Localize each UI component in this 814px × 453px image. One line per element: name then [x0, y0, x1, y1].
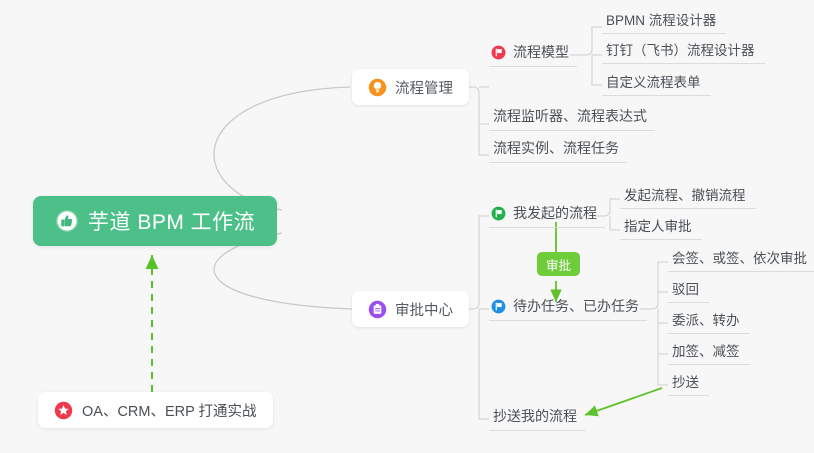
star-icon	[54, 401, 73, 420]
lightbulb-icon	[368, 78, 387, 97]
sub-node-process-model[interactable]: 流程模型	[489, 43, 577, 67]
branch-node-approval-center[interactable]: 审批中心	[352, 291, 469, 327]
root-node-label: 芋道 BPM 工作流	[88, 206, 255, 236]
thumbs-up-icon	[55, 209, 79, 233]
sub-node-label: 流程模型	[513, 42, 569, 62]
sub-node-todo-done-tasks[interactable]: 待办任务、已办任务	[489, 297, 647, 321]
flag-icon	[491, 299, 506, 314]
sub-node-label: 流程监听器、流程表达式	[493, 106, 647, 126]
edge-ac-to-cc-process	[479, 309, 489, 419]
flag-icon	[491, 45, 506, 60]
leaf-node-add-remove-sign[interactable]: 加签、减签	[668, 342, 750, 365]
root-node[interactable]: 芋道 BPM 工作流	[33, 196, 277, 246]
leaf-node-label: 会签、或签、依次审批	[672, 247, 807, 267]
flag-icon	[491, 206, 506, 221]
branch-node-process-management[interactable]: 流程管理	[352, 69, 469, 105]
sub-node-label: 抄送我的流程	[493, 406, 577, 426]
branch-node-label: 流程管理	[395, 77, 453, 98]
leaf-node-label: BPMN 流程设计器	[606, 9, 716, 29]
leaf-node-assignee-approval[interactable]: 指定人审批	[620, 217, 702, 240]
sub-node-process-listener[interactable]: 流程监听器、流程表达式	[489, 107, 655, 131]
leaf-node-counter-or-sequential-sign[interactable]: 会签、或签、依次审批	[668, 249, 814, 272]
leaf-node-reject[interactable]: 驳回	[668, 280, 709, 303]
sub-node-label: 待办任务、已办任务	[513, 296, 639, 316]
accent-node-integration[interactable]: OA、CRM、ERP 打通实战	[38, 392, 273, 428]
edge-todo-to-addsign	[658, 309, 668, 354]
sub-node-label: 我发起的流程	[513, 203, 597, 223]
edge-initiated-to-assignee	[610, 216, 620, 230]
branch-node-label: 审批中心	[395, 299, 453, 320]
sub-node-process-instance[interactable]: 流程实例、流程任务	[489, 139, 627, 163]
clipboard-icon	[368, 300, 387, 319]
leaf-node-start-cancel-process[interactable]: 发起流程、撤销流程	[620, 186, 756, 209]
mindmap-canvas: 芋道 BPM 工作流 OA、CRM、ERP 打通实战 流程管理	[0, 0, 814, 453]
leaf-node-label: 委派、转办	[672, 309, 740, 329]
leaf-node-label: 驳回	[672, 278, 699, 298]
leaf-node-label: 指定人审批	[624, 215, 692, 235]
accent-node-label: OA、CRM、ERP 打通实战	[82, 400, 257, 421]
leaf-node-label: 发起流程、撤销流程	[624, 184, 746, 204]
leaf-node-custom-process-form[interactable]: 自定义流程表单	[602, 73, 711, 96]
leaf-node-label: 钉钉（飞书）流程设计器	[606, 39, 755, 59]
leaf-node-label: 自定义流程表单	[606, 71, 701, 91]
leaf-node-dingtalk-feishu-designer[interactable]: 钉钉（飞书）流程设计器	[602, 41, 765, 64]
leaf-node-bpmn-designer[interactable]: BPMN 流程设计器	[602, 11, 726, 34]
sub-node-label: 流程实例、流程任务	[493, 138, 619, 158]
relation-label-approval[interactable]: 审批	[537, 252, 580, 276]
edge-root-to-process-management	[214, 87, 350, 210]
leaf-node-carbon-copy[interactable]: 抄送	[668, 373, 709, 396]
edge-todo-to-cc	[658, 354, 668, 385]
leaf-node-label: 加签、减签	[672, 340, 740, 360]
sub-node-my-initiated-process[interactable]: 我发起的流程	[489, 204, 605, 228]
sub-node-cc-to-me-process[interactable]: 抄送我的流程	[489, 407, 585, 431]
edge-model-to-custom-form	[592, 55, 602, 85]
relation-cc-arrow	[585, 388, 662, 415]
leaf-node-label: 抄送	[672, 371, 699, 391]
relation-label-text: 审批	[546, 255, 571, 274]
leaf-node-delegate-transfer[interactable]: 委派、转办	[668, 311, 750, 334]
